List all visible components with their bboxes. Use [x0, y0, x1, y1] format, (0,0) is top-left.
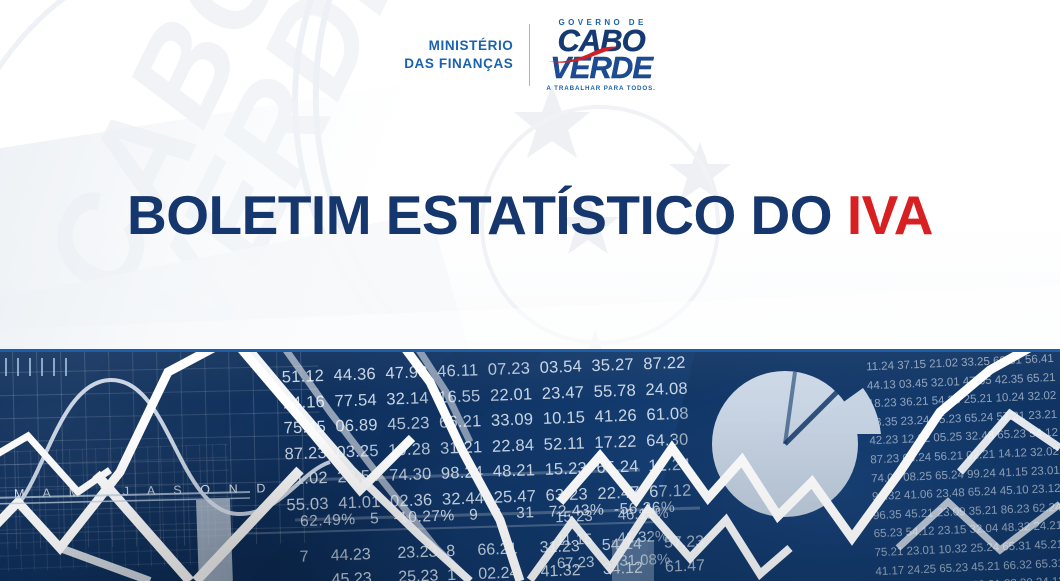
ministry-line-2: DAS FINANÇAS [404, 55, 513, 73]
header-logo-bar: MINISTÉRIO DAS FINANÇAS GOVERNO DE CABO … [0, 0, 1060, 110]
government-logo: GOVERNO DE CABO VERDE A TRABALHAR PARA T… [530, 18, 655, 92]
government-tagline: A TRABALHAR PARA TODOS. [546, 85, 655, 92]
cover-page: CABO VERDE [0, 0, 1060, 581]
page-title: BOLETIM ESTATÍSTICO DO IVA [0, 183, 1060, 247]
government-word-verde: VERDE [546, 55, 655, 82]
ministry-line-1: MINISTÉRIO [404, 37, 513, 55]
government-wordmark: CABO VERDE [546, 28, 655, 81]
cover-photo-band: 51.12 44.36 47.98 46.11 07.23 03.54 35.2… [0, 352, 1060, 581]
title-accent-text: IVA [847, 184, 933, 246]
title-main-text: BOLETIM ESTATÍSTICO DO [127, 184, 847, 246]
chart-artwork [0, 352, 1060, 581]
ministry-wordmark: MINISTÉRIO DAS FINANÇAS [404, 37, 529, 73]
